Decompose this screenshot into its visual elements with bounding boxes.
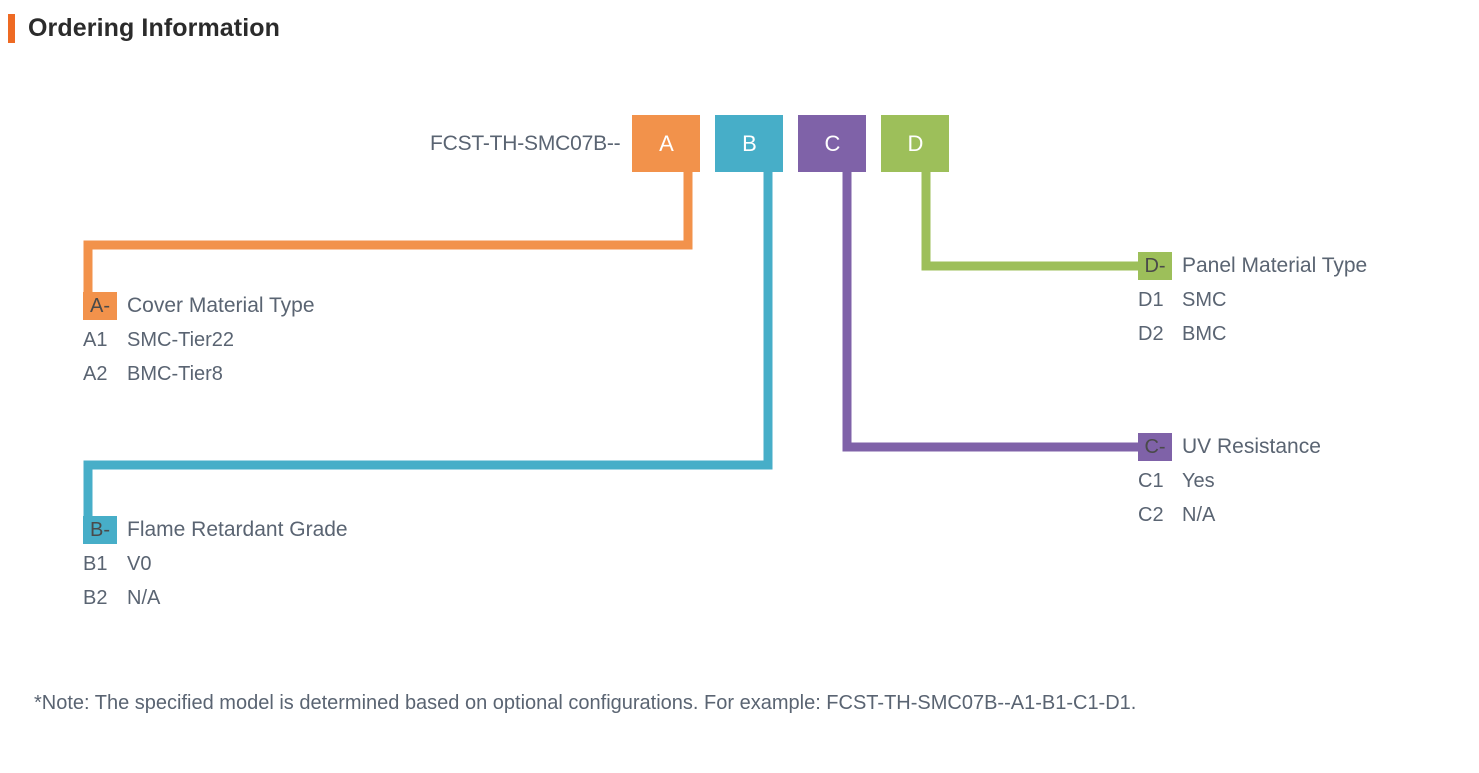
code-box-c[interactable]: C [798, 115, 866, 172]
option-title-row-c: C- UV Resistance [1138, 433, 1321, 461]
option-row: C2 N/A [1138, 501, 1321, 529]
group-badge-a: A- [83, 292, 117, 320]
option-value: N/A [127, 587, 160, 610]
option-title-c: UV Resistance [1182, 435, 1321, 459]
option-row: A1 SMC-Tier22 [83, 326, 315, 354]
option-value: V0 [127, 553, 151, 576]
model-code-row: FCST-TH-SMC07B-- A B C D [430, 115, 949, 172]
option-value: SMC-Tier22 [127, 329, 234, 352]
option-key: C1 [1138, 470, 1172, 493]
option-key: B1 [83, 553, 117, 576]
option-key: A2 [83, 363, 117, 386]
option-value: BMC-Tier8 [127, 363, 223, 386]
code-box-a[interactable]: A [632, 115, 700, 172]
option-row: D2 BMC [1138, 320, 1367, 348]
option-group-c: C- UV Resistance C1 Yes C2 N/A [1138, 433, 1321, 529]
option-row: B2 N/A [83, 584, 348, 612]
connector-line-c [847, 168, 1155, 447]
option-group-a: A- Cover Material Type A1 SMC-Tier22 A2 … [83, 292, 315, 388]
footnote: *Note: The specified model is determined… [34, 692, 1136, 715]
option-value: SMC [1182, 289, 1226, 312]
option-row: C1 Yes [1138, 467, 1321, 495]
option-value: N/A [1182, 504, 1215, 527]
option-title-row-b: B- Flame Retardant Grade [83, 516, 348, 544]
option-title-row-a: A- Cover Material Type [83, 292, 315, 320]
option-row: D1 SMC [1138, 286, 1367, 314]
group-badge-d: D- [1138, 252, 1172, 280]
option-key: B2 [83, 587, 117, 610]
option-value: BMC [1182, 323, 1226, 346]
option-title-b: Flame Retardant Grade [127, 518, 348, 542]
option-key: D1 [1138, 289, 1172, 312]
code-box-d[interactable]: D [881, 115, 949, 172]
option-title-row-d: D- Panel Material Type [1138, 252, 1367, 280]
connector-line-d [926, 168, 1155, 266]
code-box-b[interactable]: B [715, 115, 783, 172]
option-row: B1 V0 [83, 550, 348, 578]
option-title-a: Cover Material Type [127, 294, 315, 318]
option-group-d: D- Panel Material Type D1 SMC D2 BMC [1138, 252, 1367, 348]
option-value: Yes [1182, 470, 1215, 493]
group-badge-b: B- [83, 516, 117, 544]
option-key: A1 [83, 329, 117, 352]
option-group-b: B- Flame Retardant Grade B1 V0 B2 N/A [83, 516, 348, 612]
option-key: C2 [1138, 504, 1172, 527]
ordering-information-diagram: FCST-TH-SMC07B-- A B C D A- Cover Materi… [0, 0, 1479, 773]
option-row: A2 BMC-Tier8 [83, 360, 315, 388]
connector-line-a [88, 168, 688, 292]
option-title-d: Panel Material Type [1182, 254, 1367, 278]
model-code-prefix: FCST-TH-SMC07B-- [430, 132, 632, 156]
group-badge-c: C- [1138, 433, 1172, 461]
option-key: D2 [1138, 323, 1172, 346]
